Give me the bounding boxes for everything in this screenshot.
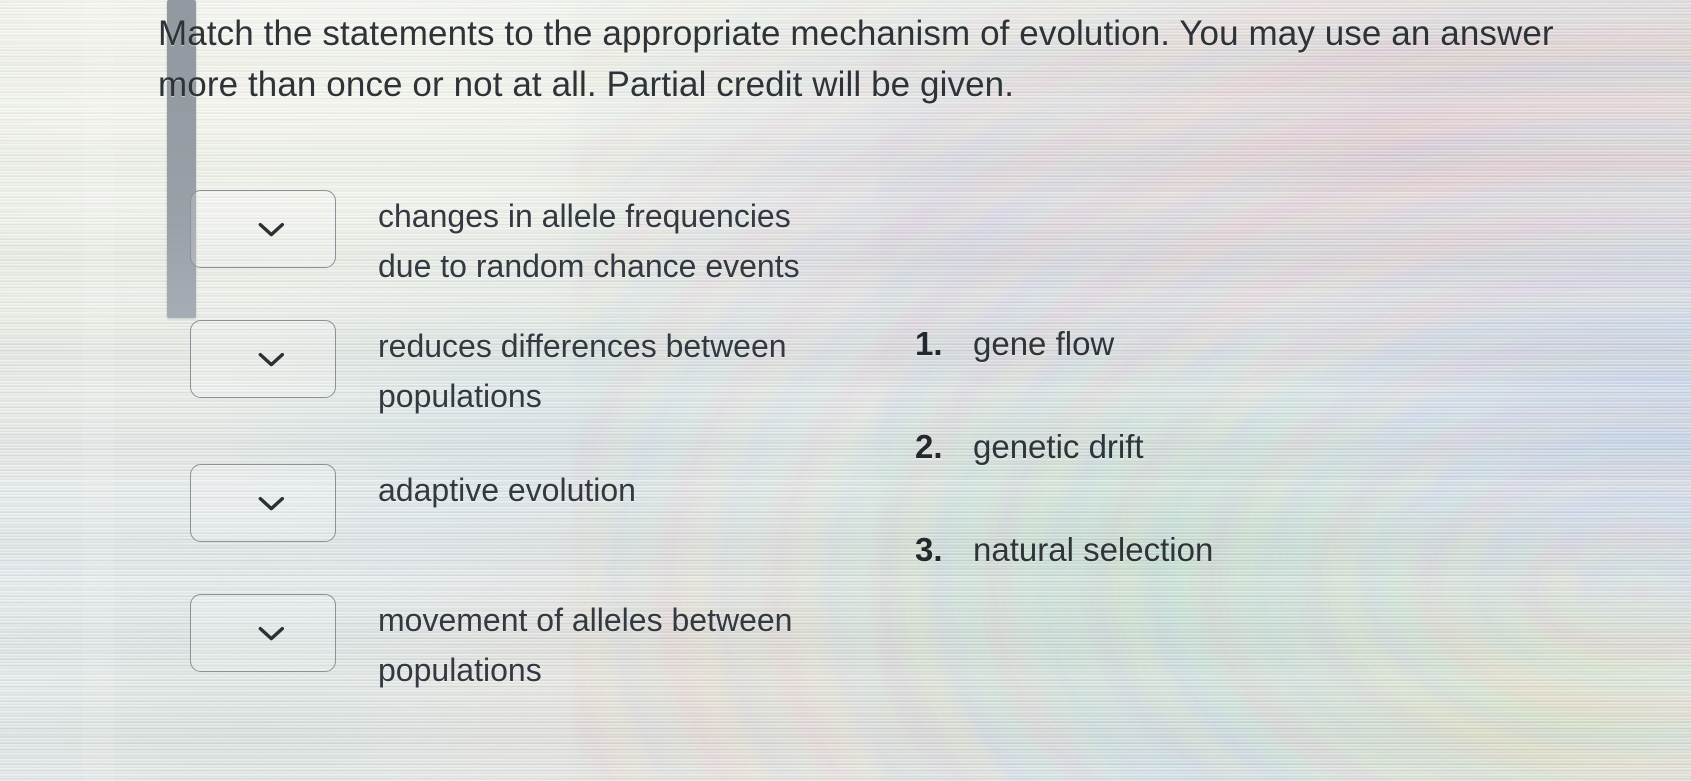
screen-photo: Match the statements to the appropriate … xyxy=(0,0,1691,781)
answer-dropdown-2[interactable] xyxy=(190,320,336,398)
statements-column: changes in allele frequencies due to ran… xyxy=(190,190,890,695)
answer-option-number: 1. xyxy=(915,325,973,363)
match-row: reduces differences between populations xyxy=(190,320,890,422)
statement-text-3: adaptive evolution xyxy=(378,464,636,516)
answer-option-number: 3. xyxy=(915,531,973,569)
match-row: changes in allele frequencies due to ran… xyxy=(190,190,890,292)
question-prompt: Match the statements to the appropriate … xyxy=(158,8,1608,111)
chevron-down-icon xyxy=(258,495,284,511)
answer-option-label: gene flow xyxy=(973,325,1535,363)
answer-dropdown-3[interactable] xyxy=(190,464,336,542)
answer-option-2: 2. genetic drift xyxy=(915,428,1535,466)
statement-text-1: changes in allele frequencies due to ran… xyxy=(378,190,848,292)
answer-option-number: 2. xyxy=(915,428,973,466)
answer-option-label: natural selection xyxy=(973,531,1535,569)
vertical-scrollbar-track[interactable] xyxy=(83,0,114,781)
question-prompt-line-1: Match the statements to the appropriate … xyxy=(158,14,1430,53)
match-row: adaptive evolution xyxy=(190,464,890,542)
answer-option-3: 3. natural selection xyxy=(915,531,1535,569)
match-row: movement of alleles between populations xyxy=(190,594,890,696)
answer-option-1: 1. gene flow xyxy=(915,325,1535,363)
answer-dropdown-1[interactable] xyxy=(190,190,336,268)
chevron-down-icon xyxy=(258,625,284,641)
answer-option-label: genetic drift xyxy=(973,428,1535,466)
chevron-down-icon xyxy=(258,351,284,367)
answer-options-column: 1. gene flow 2. genetic drift 3. natural… xyxy=(915,325,1535,634)
answer-dropdown-4[interactable] xyxy=(190,594,336,672)
statement-text-4: movement of alleles between populations xyxy=(378,594,848,696)
chevron-down-icon xyxy=(258,222,284,238)
statement-text-2: reduces differences between populations xyxy=(378,320,848,422)
